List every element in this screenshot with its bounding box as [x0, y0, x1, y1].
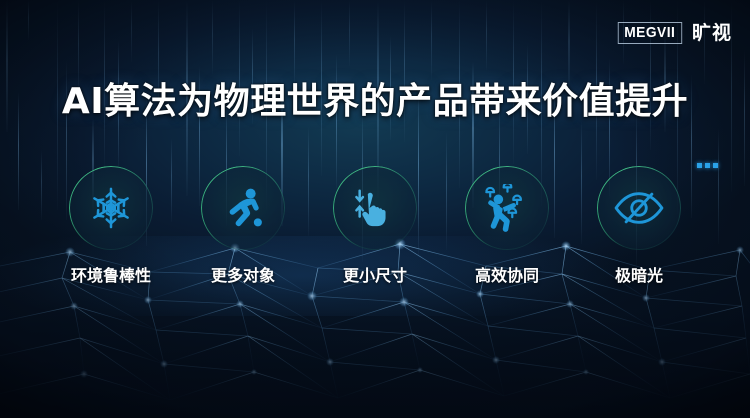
feature-icon-circle	[69, 166, 153, 250]
feature-label: 极暗光	[615, 268, 663, 284]
juggling-person-icon	[482, 184, 532, 232]
feature-row: 环境鲁棒性 更多对象	[0, 166, 750, 284]
eye-off-icon	[613, 187, 665, 229]
feature-label: 环境鲁棒性	[71, 268, 151, 284]
feature-item-efficient-collaboration[interactable]: 高效协同	[464, 166, 550, 284]
running-person-icon	[219, 185, 267, 231]
feature-icon-circle	[465, 166, 549, 250]
feature-item-low-light[interactable]: 极暗光	[596, 166, 682, 284]
feature-label: 更多对象	[211, 268, 275, 284]
presentation-slide: MEGVII 旷视 AI算法为物理世界的产品带来价值提升	[0, 0, 750, 418]
feature-label: 更小尺寸	[343, 268, 407, 284]
feature-icon-circle	[597, 166, 681, 250]
feature-item-more-objects[interactable]: 更多对象	[200, 166, 286, 284]
feature-item-environment-robustness[interactable]: 环境鲁棒性	[68, 166, 154, 284]
feature-icon-circle	[201, 166, 285, 250]
pinch-gesture-icon	[351, 185, 399, 231]
logo-mark-text: MEGVII	[618, 22, 682, 44]
feature-label: 高效协同	[475, 268, 539, 284]
feature-icon-circle	[333, 166, 417, 250]
logo-chinese-text: 旷视	[692, 24, 732, 43]
page-title: AI算法为物理世界的产品带来价值提升	[0, 72, 750, 124]
megvii-logo: MEGVII 旷视	[615, 22, 732, 44]
feature-item-smaller-size[interactable]: 更小尺寸	[332, 166, 418, 284]
snowflake-icon	[88, 185, 134, 231]
